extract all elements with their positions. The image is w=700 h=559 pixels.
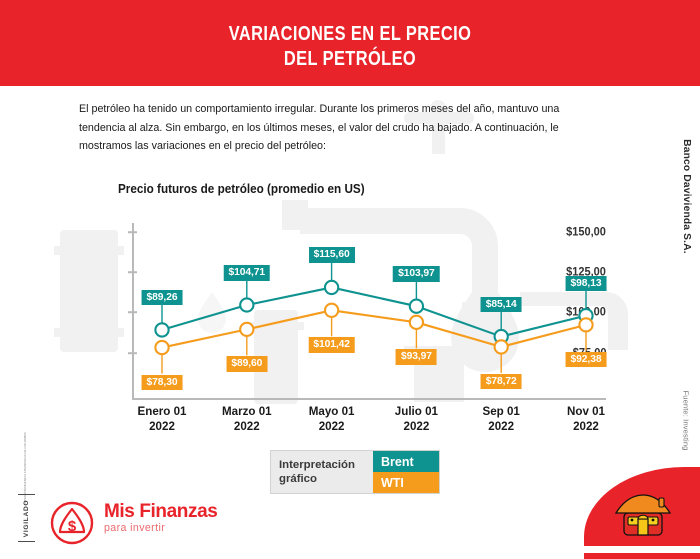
vigilado-box: VIGILADO: [18, 494, 35, 542]
vigilado-label: VIGILADO: [23, 499, 30, 536]
value-label-wti-0: $78,30: [142, 375, 183, 391]
legend-item-wti-label: WTI: [381, 476, 404, 490]
value-label-brent-5: $98,13: [566, 276, 607, 292]
data-point-wti-3: [410, 316, 423, 329]
data-point-wti-5: [579, 318, 592, 331]
series-line-brent: [162, 287, 586, 336]
x-axis-label-3: Julio 012022: [395, 404, 438, 434]
logo-tagline-text: para invertir: [104, 522, 165, 534]
data-point-brent-3: [410, 300, 423, 313]
x-axis-label-4: Sep 012022: [482, 404, 519, 434]
chart-plot-area: $150,00 $125,00 $100,00 $75,00 $89,26$10…: [86, 215, 606, 400]
value-label-brent-3: $103,97: [393, 266, 440, 282]
series-line-wti: [162, 310, 586, 347]
value-label-wti-5: $92,38: [566, 352, 607, 368]
vigilado-seal: SUPERINTENDENCIA FINANCIERA DE COLOMBIA …: [12, 448, 42, 546]
value-label-wti-2: $101,42: [308, 337, 355, 353]
legend-keys: Brent WTI: [373, 451, 439, 493]
x-axis-label-1: Marzo 012022: [222, 404, 272, 434]
value-label-brent-1: $104,71: [224, 265, 271, 281]
legend-caption: Interpretación gráfico: [271, 451, 373, 493]
legend-caption-line1: Interpretación: [279, 458, 373, 472]
data-point-wti-1: [240, 323, 253, 336]
x-axis-label-0: Enero 012022: [138, 404, 187, 434]
value-label-wti-4: $78,72: [481, 374, 522, 390]
page-title: Variaciones en el precio del petróleo: [63, 22, 637, 72]
svg-text:$: $: [68, 518, 77, 535]
house-mascot-icon: [612, 493, 674, 539]
legend-caption-line2: gráfico: [279, 472, 373, 486]
x-axis-label-5: Nov 012022: [567, 404, 605, 434]
mis-finanzas-logo: $ Mis Finanzas para invertir: [48, 500, 258, 546]
legend-item-wti: WTI: [373, 472, 439, 493]
value-label-brent-2: $115,60: [309, 247, 355, 263]
bottom-white-strip: [0, 546, 700, 553]
value-label-wti-3: $93,97: [396, 349, 437, 365]
intro-paragraph: El petróleo ha tenido un comportamiento …: [79, 100, 591, 156]
infographic-page: Variaciones en el precio del petróleo: [0, 0, 700, 553]
series-markers-wti: [155, 304, 592, 354]
x-axis-labels: Enero 012022Marzo 012022Mayo 012022Julio…: [86, 404, 606, 444]
logo-text: Mis Finanzas para invertir: [104, 501, 217, 535]
bank-name-vertical: Banco Davivienda S.A.: [675, 96, 697, 296]
bank-name-text: Banco Davivienda S.A.: [681, 139, 692, 254]
value-label-brent-4: $85,14: [481, 297, 522, 313]
x-axis-label-2: Mayo 012022: [309, 404, 355, 434]
legend-item-brent: Brent: [373, 451, 439, 472]
data-point-brent-2: [325, 281, 338, 294]
value-label-brent-0: $89,26: [142, 290, 183, 306]
chart-source-text: Fuente: Investing: [682, 390, 691, 450]
chart-series-svg: [86, 215, 606, 400]
vigilado-microtext: SUPERINTENDENCIA FINANCIERA DE COLOMBIA: [19, 448, 33, 490]
page-title-line2: del petróleo: [63, 47, 637, 72]
data-point-wti-4: [495, 340, 508, 353]
chart-title: Precio futuros de petróleo (promedio en …: [118, 182, 365, 196]
page-title-line1: Variaciones en el precio: [229, 23, 472, 45]
legend-item-brent-label: Brent: [381, 455, 414, 469]
data-point-wti-2: [325, 304, 338, 317]
data-point-wti-0: [155, 341, 168, 354]
chart-source-vertical: Fuente: Investing: [676, 372, 696, 468]
chart-legend: Interpretación gráfico Brent WTI: [270, 450, 440, 494]
logo-tagline: para invertir: [104, 522, 217, 535]
value-label-wti-1: $89,60: [226, 356, 267, 372]
data-point-brent-0: [155, 323, 168, 336]
logo-name: Mis Finanzas: [104, 501, 217, 522]
peso-circle-icon: $: [48, 500, 96, 546]
data-point-brent-1: [240, 298, 253, 311]
